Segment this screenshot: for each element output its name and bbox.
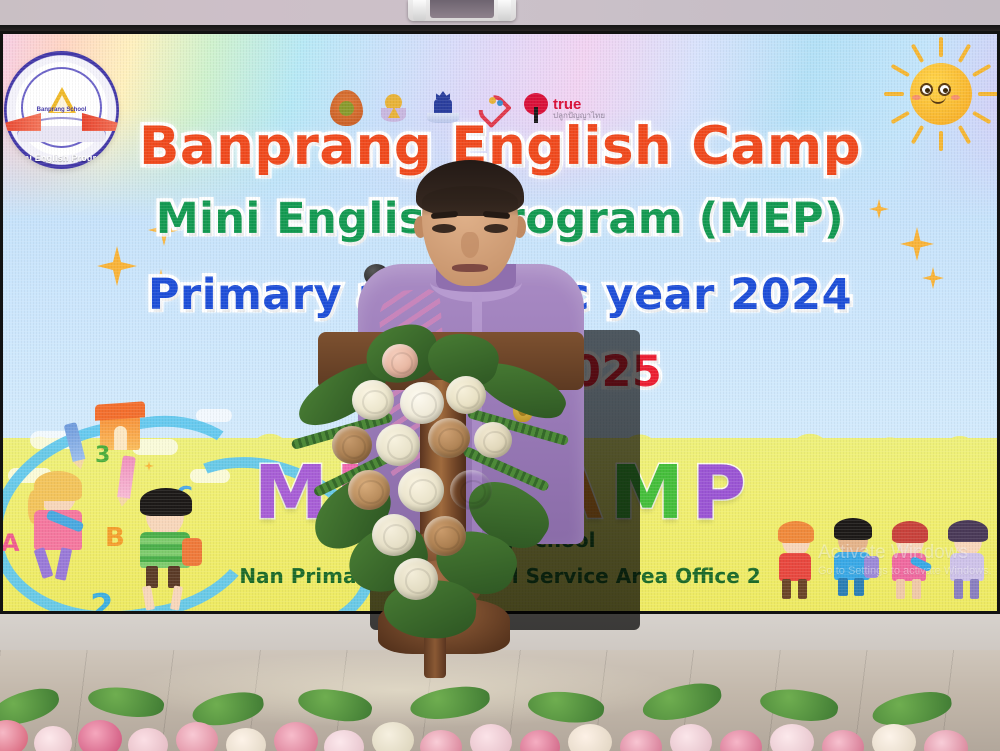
stage-flower-garland [0,686,1000,751]
garland-leaf [758,683,840,726]
garland-rose [620,730,662,751]
bouquet-rose [424,516,466,556]
garland-leaf [409,684,492,722]
garland-leaf [526,687,605,727]
garland-rose [176,722,218,751]
garland-rose [568,724,612,751]
garland-leaf [296,683,375,728]
bouquet-rose [450,470,492,510]
garland-rose [872,724,916,751]
garland-rose [670,724,712,751]
garland-rose [470,724,512,751]
speaker-nose [461,232,479,258]
bouquet-rose [474,422,512,458]
bouquet-rose [372,514,416,556]
garland-rose [520,730,560,751]
garland-rose [34,726,72,751]
projector-lens [430,0,494,18]
garland-leaf [640,679,724,724]
bouquet-rose [376,424,420,466]
garland-rose [822,730,864,751]
bouquet-rose [428,418,470,458]
garland-leaf [870,689,953,730]
podium-bouquet [288,318,578,648]
garland-rose [720,730,762,751]
bouquet-rose [446,376,486,414]
bouquet-rose [348,470,390,510]
garland-rose [324,730,364,751]
garland-rose [78,720,122,751]
garland-rose [226,728,266,751]
garland-rose [372,722,414,751]
ceiling-projector-fixture [408,0,516,21]
garland-leaf [86,682,166,723]
ceiling [0,0,1000,27]
garland-rose [128,728,168,751]
speaker-eye [484,224,508,233]
bouquet-rose [382,344,418,378]
event-photo: 3 C B A 2 [0,0,1000,751]
speaker-hair [416,160,524,216]
garland-rose [770,724,814,751]
garland-rose [420,730,462,751]
bouquet-rose [394,558,438,600]
bouquet-rose [400,382,444,424]
bouquet-rose [352,380,394,420]
garland-rose [924,730,968,751]
speaker-eye [432,224,456,233]
garland-rose [274,722,318,751]
bouquet-rose [398,468,444,512]
bouquet-rose [332,426,372,464]
garland-rose [0,720,28,751]
speaker-mouth [452,264,488,272]
